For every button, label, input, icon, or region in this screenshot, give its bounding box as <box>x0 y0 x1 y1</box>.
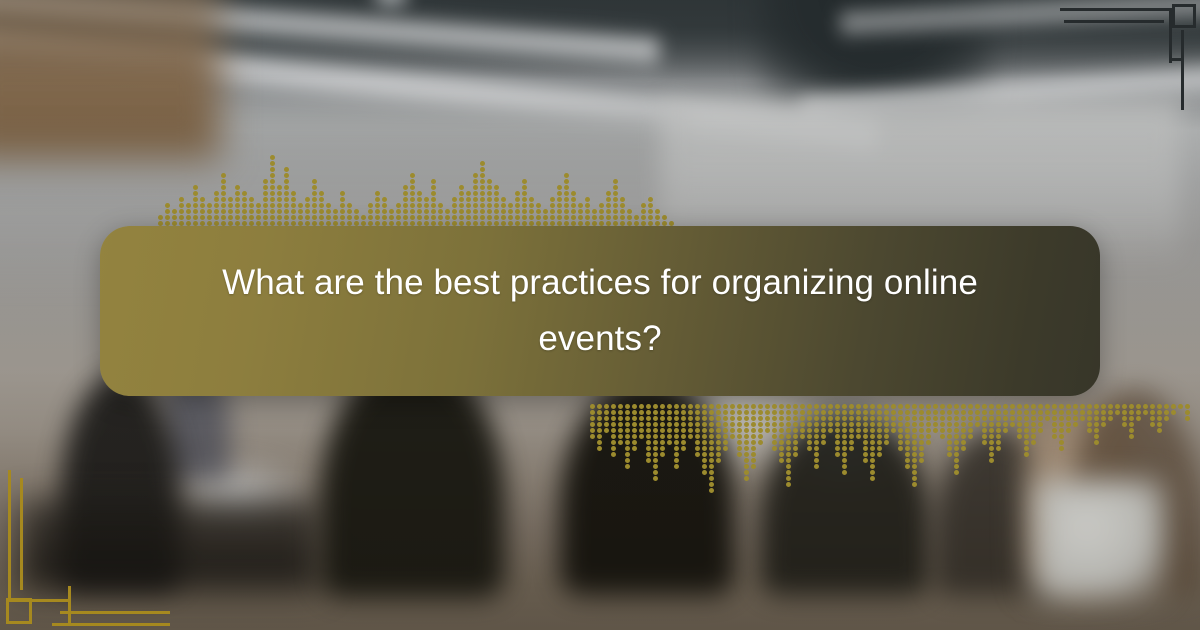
waveform-dot <box>835 434 840 439</box>
waveform-dot <box>947 422 952 427</box>
waveform-dot <box>1024 446 1029 451</box>
waveform-dot <box>1073 416 1078 421</box>
waveform-dot <box>648 215 653 220</box>
waveform-column <box>926 404 931 445</box>
waveform-dot <box>361 215 366 220</box>
waveform-dot <box>772 446 777 451</box>
waveform-column <box>494 185 499 226</box>
waveform-dot <box>487 203 492 208</box>
waveform-dot <box>884 416 889 421</box>
waveform-column <box>688 404 693 439</box>
waveform-dot <box>417 197 422 202</box>
waveform-dot <box>919 416 924 421</box>
waveform-dot <box>954 464 959 469</box>
waveform-dot <box>611 446 616 451</box>
waveform-dot <box>459 197 464 202</box>
waveform-dot <box>1017 416 1022 421</box>
waveform-dot <box>653 428 658 433</box>
waveform-dot <box>709 428 714 433</box>
waveform-column <box>940 404 945 439</box>
waveform-dot <box>730 422 735 427</box>
waveform-dot <box>702 416 707 421</box>
waveform-dot <box>625 428 630 433</box>
waveform-dot <box>877 434 882 439</box>
waveform-dot <box>758 434 763 439</box>
waveform-dot <box>779 428 784 433</box>
waveform-dot <box>1059 440 1064 445</box>
waveform-dot <box>814 434 819 439</box>
waveform-dot <box>618 434 623 439</box>
waveform-dot <box>660 410 665 415</box>
waveform-dot <box>912 410 917 415</box>
waveform-dot <box>564 191 569 196</box>
waveform-dot <box>1185 404 1190 409</box>
waveform-dot <box>1101 404 1106 409</box>
waveform-dot <box>403 191 408 196</box>
waveform-dot <box>723 404 728 409</box>
waveform-dot <box>165 215 170 220</box>
waveform-dot <box>814 446 819 451</box>
waveform-dot <box>912 428 917 433</box>
waveform-dot <box>487 179 492 184</box>
waveform-dot <box>807 416 812 421</box>
waveform-column <box>235 185 240 226</box>
waveform-column <box>627 209 632 226</box>
waveform-dot <box>954 446 959 451</box>
waveform-dot <box>786 410 791 415</box>
waveform-dot <box>751 422 756 427</box>
waveform-dot <box>884 428 889 433</box>
waveform-dot <box>641 203 646 208</box>
waveform-column <box>249 197 254 226</box>
waveform-dot <box>1045 404 1050 409</box>
waveform-dot <box>242 215 247 220</box>
waveform-dot <box>1059 446 1064 451</box>
waveform-dot <box>487 215 492 220</box>
waveform-dot <box>312 209 317 214</box>
waveform-dot <box>1052 404 1057 409</box>
waveform-dot <box>709 440 714 445</box>
waveform-dot <box>1129 416 1134 421</box>
waveform-column <box>480 161 485 226</box>
waveform-column <box>158 215 163 226</box>
waveform-dot <box>723 416 728 421</box>
waveform-dot <box>270 155 275 160</box>
waveform-dot <box>249 197 254 202</box>
waveform-dot <box>597 434 602 439</box>
waveform-dot <box>744 422 749 427</box>
waveform-dot <box>653 404 658 409</box>
waveform-dot <box>632 404 637 409</box>
waveform-dot <box>1073 404 1078 409</box>
waveform-dot <box>494 197 499 202</box>
waveform-column <box>571 191 576 226</box>
waveform-dot <box>207 209 212 214</box>
waveform-dot <box>1108 410 1113 415</box>
waveform-dot <box>653 440 658 445</box>
waveform-dot <box>494 209 499 214</box>
waveform-dot <box>200 209 205 214</box>
waveform-dot <box>590 404 595 409</box>
waveform-column <box>905 404 910 469</box>
waveform-dot <box>786 482 791 487</box>
waveform-dot <box>807 446 812 451</box>
waveform-dot <box>284 209 289 214</box>
waveform-dot <box>716 428 721 433</box>
waveform-dot <box>968 410 973 415</box>
waveform-dot <box>165 209 170 214</box>
waveform-column <box>975 404 980 427</box>
waveform-dot <box>842 446 847 451</box>
waveform-dot <box>585 203 590 208</box>
waveform-dot <box>632 416 637 421</box>
waveform-dot <box>800 434 805 439</box>
waveform-column <box>814 404 819 469</box>
waveform-dot <box>179 203 184 208</box>
waveform-dot <box>849 434 854 439</box>
waveform-dot <box>751 458 756 463</box>
waveform-dot <box>723 434 728 439</box>
waveform-dot <box>431 197 436 202</box>
waveform-dot <box>389 215 394 220</box>
waveform-dot <box>466 191 471 196</box>
waveform-dot <box>270 191 275 196</box>
waveform-dot <box>221 185 226 190</box>
waveform-dot <box>982 410 987 415</box>
waveform-column <box>744 404 749 481</box>
waveform-column <box>1178 404 1183 409</box>
waveform-dot <box>340 203 345 208</box>
waveform-dot <box>312 215 317 220</box>
waveform-dot <box>737 416 742 421</box>
waveform-column <box>674 404 679 469</box>
waveform-dot <box>961 422 966 427</box>
waveform-dot <box>940 422 945 427</box>
waveform-dot <box>744 458 749 463</box>
waveform-dot <box>660 440 665 445</box>
waveform-column <box>599 203 604 226</box>
waveform-column <box>396 203 401 226</box>
waveform-dot <box>919 428 924 433</box>
waveform-dot <box>744 446 749 451</box>
waveform-dot <box>256 215 261 220</box>
waveform-dot <box>618 428 623 433</box>
waveform-dot <box>744 464 749 469</box>
waveform-dot <box>431 191 436 196</box>
waveform-column <box>655 209 660 226</box>
waveform-dot <box>667 404 672 409</box>
waveform-dot <box>431 209 436 214</box>
waveform-dot <box>653 464 658 469</box>
waveform-column <box>410 173 415 226</box>
waveform-dot <box>905 452 910 457</box>
waveform-dot <box>667 440 672 445</box>
waveform-dot <box>856 422 861 427</box>
waveform-column <box>298 203 303 226</box>
waveform-dot <box>947 416 952 421</box>
waveform-dot <box>751 464 756 469</box>
waveform-dot <box>522 215 527 220</box>
waveform-dot <box>263 185 268 190</box>
waveform-dot <box>417 215 422 220</box>
waveform-dot <box>1066 416 1071 421</box>
waveform-dot <box>319 197 324 202</box>
waveform-dot <box>1059 428 1064 433</box>
waveform-dot <box>242 203 247 208</box>
waveform-column <box>578 203 583 226</box>
waveform-dot <box>667 428 672 433</box>
waveform-dot <box>961 404 966 409</box>
waveform-dot <box>912 482 917 487</box>
waveform-dot <box>473 185 478 190</box>
waveform-dot <box>473 179 478 184</box>
waveform-dot <box>660 446 665 451</box>
waveform-dot <box>954 416 959 421</box>
waveform-column <box>375 191 380 226</box>
waveform-dot <box>709 452 714 457</box>
waveform-column <box>590 404 595 439</box>
waveform-dot <box>445 209 450 214</box>
waveform-dot <box>529 215 534 220</box>
waveform-dot <box>996 446 1001 451</box>
waveform-column <box>1080 404 1085 421</box>
waveform-dot <box>674 440 679 445</box>
waveform-dot <box>662 215 667 220</box>
waveform-column <box>807 404 812 451</box>
waveform-dot <box>653 458 658 463</box>
waveform-dot <box>737 446 742 451</box>
waveform-dot <box>919 446 924 451</box>
waveform-dot <box>1150 416 1155 421</box>
waveform-dot <box>716 422 721 427</box>
waveform-dot <box>557 197 562 202</box>
waveform-dot <box>1094 410 1099 415</box>
waveform-dot <box>424 209 429 214</box>
waveform-dot <box>975 410 980 415</box>
waveform-dot <box>1010 404 1015 409</box>
waveform-dot <box>1003 404 1008 409</box>
waveform-dot <box>284 185 289 190</box>
waveform-dot <box>256 203 261 208</box>
waveform-dot <box>326 215 331 220</box>
waveform-dot <box>905 422 910 427</box>
waveform-column <box>681 404 686 451</box>
waveform-dot <box>1059 404 1064 409</box>
waveform-dot <box>702 452 707 457</box>
waveform-dot <box>536 203 541 208</box>
waveform-dot <box>758 440 763 445</box>
waveform-dot <box>459 203 464 208</box>
waveform-dot <box>905 440 910 445</box>
waveform-dot <box>688 434 693 439</box>
waveform-dot <box>814 452 819 457</box>
waveform-dot <box>982 422 987 427</box>
ornament-square <box>1172 4 1196 28</box>
waveform-dot <box>235 209 240 214</box>
waveform-dot <box>1087 404 1092 409</box>
waveform-dot <box>737 410 742 415</box>
waveform-dot <box>611 434 616 439</box>
waveform-column <box>319 191 324 226</box>
waveform-dot <box>856 410 861 415</box>
waveform-dot <box>723 410 728 415</box>
waveform-dot <box>779 440 784 445</box>
waveform-dot <box>347 203 352 208</box>
waveform-dot <box>403 215 408 220</box>
waveform-dot <box>912 422 917 427</box>
waveform-dot <box>564 197 569 202</box>
waveform-dot <box>452 215 457 220</box>
waveform-dot <box>653 434 658 439</box>
waveform-dot <box>242 197 247 202</box>
waveform-column <box>445 209 450 226</box>
waveform-dot <box>585 209 590 214</box>
waveform-dot <box>786 464 791 469</box>
waveform-dot <box>606 197 611 202</box>
waveform-column <box>730 404 735 439</box>
waveform-dot <box>590 410 595 415</box>
waveform-dot <box>207 203 212 208</box>
waveform-dot <box>564 203 569 208</box>
waveform-column <box>912 404 917 487</box>
waveform-dot <box>828 416 833 421</box>
waveform-dot <box>772 422 777 427</box>
waveform-dot <box>410 173 415 178</box>
waveform-dot <box>674 464 679 469</box>
waveform-dot <box>214 197 219 202</box>
waveform-dot <box>270 203 275 208</box>
waveform-column <box>270 155 275 226</box>
waveform-dot <box>319 203 324 208</box>
waveform-dot <box>926 422 931 427</box>
waveform-dot <box>856 416 861 421</box>
waveform-dot <box>842 428 847 433</box>
waveform-dot <box>779 434 784 439</box>
waveform-dot <box>870 404 875 409</box>
waveform-dot <box>968 404 973 409</box>
waveform-dot <box>961 428 966 433</box>
waveform-dot <box>604 422 609 427</box>
waveform-dot <box>1038 428 1043 433</box>
waveform-dot <box>800 416 805 421</box>
waveform-dot <box>863 440 868 445</box>
waveform-dot <box>1052 410 1057 415</box>
waveform-column <box>604 404 609 433</box>
waveform-dot <box>919 458 924 463</box>
waveform-dot <box>737 440 742 445</box>
waveform-dot <box>1059 410 1064 415</box>
waveform-dot <box>501 197 506 202</box>
waveform-dot <box>793 428 798 433</box>
waveform-dot <box>200 203 205 208</box>
waveform-dot <box>1164 416 1169 421</box>
waveform-dot <box>522 191 527 196</box>
waveform-column <box>1164 404 1169 421</box>
waveform-dot <box>459 209 464 214</box>
waveform-column <box>648 197 653 226</box>
waveform-dot <box>695 452 700 457</box>
waveform-dot <box>877 410 882 415</box>
waveform-dot <box>417 203 422 208</box>
waveform-dot <box>473 191 478 196</box>
waveform-dot <box>1143 410 1148 415</box>
waveform-dot <box>863 446 868 451</box>
waveform-dot <box>863 428 868 433</box>
waveform-dot <box>877 404 882 409</box>
waveform-dot <box>1094 434 1099 439</box>
waveform-dot <box>312 203 317 208</box>
waveform-dot <box>368 209 373 214</box>
waveform-column <box>1073 404 1078 427</box>
waveform-dot <box>940 434 945 439</box>
waveform-dot <box>884 422 889 427</box>
ornament-line <box>1181 30 1184 110</box>
waveform-dot <box>870 428 875 433</box>
waveform-dot <box>270 185 275 190</box>
ornament-line <box>20 478 23 590</box>
waveform-dot <box>1038 404 1043 409</box>
waveform-dot <box>235 191 240 196</box>
waveform-dot <box>613 197 618 202</box>
waveform-dot <box>807 422 812 427</box>
waveform-dot <box>431 185 436 190</box>
waveform-column <box>849 404 854 451</box>
waveform-dot <box>807 434 812 439</box>
waveform-dot <box>305 215 310 220</box>
waveform-dot <box>779 422 784 427</box>
waveform-dot <box>235 185 240 190</box>
waveform-dot <box>522 179 527 184</box>
waveform-dot <box>284 179 289 184</box>
waveform-dot <box>592 215 597 220</box>
waveform-dot <box>284 173 289 178</box>
waveform-dot <box>1024 410 1029 415</box>
ornament-line <box>1064 20 1164 23</box>
waveform-dot <box>807 428 812 433</box>
waveform-dot <box>744 428 749 433</box>
waveform-dot <box>1003 428 1008 433</box>
waveform-column <box>737 404 742 457</box>
waveform-dot <box>947 410 952 415</box>
waveform-dot <box>480 197 485 202</box>
waveform-dot <box>536 209 541 214</box>
waveform-dot <box>618 422 623 427</box>
waveform-dot <box>221 197 226 202</box>
waveform-dot <box>912 458 917 463</box>
waveform-dot <box>695 422 700 427</box>
waveform-dot <box>410 209 415 214</box>
waveform-dot <box>716 404 721 409</box>
waveform-dot <box>660 404 665 409</box>
waveform-dot <box>989 422 994 427</box>
waveform-dot <box>653 476 658 481</box>
waveform-dot <box>814 464 819 469</box>
waveform-dot <box>375 209 380 214</box>
waveform-dot <box>989 416 994 421</box>
waveform-dot <box>375 191 380 196</box>
waveform-dot <box>501 209 506 214</box>
waveform-dot <box>786 416 791 421</box>
waveform-dot <box>870 446 875 451</box>
waveform-dot <box>982 428 987 433</box>
waveform-dot <box>480 191 485 196</box>
waveform-dot <box>319 209 324 214</box>
waveform-dot <box>632 446 637 451</box>
waveform-dot <box>912 416 917 421</box>
ornament-line <box>60 611 170 614</box>
waveform-dot <box>905 464 910 469</box>
waveform-dot <box>744 416 749 421</box>
